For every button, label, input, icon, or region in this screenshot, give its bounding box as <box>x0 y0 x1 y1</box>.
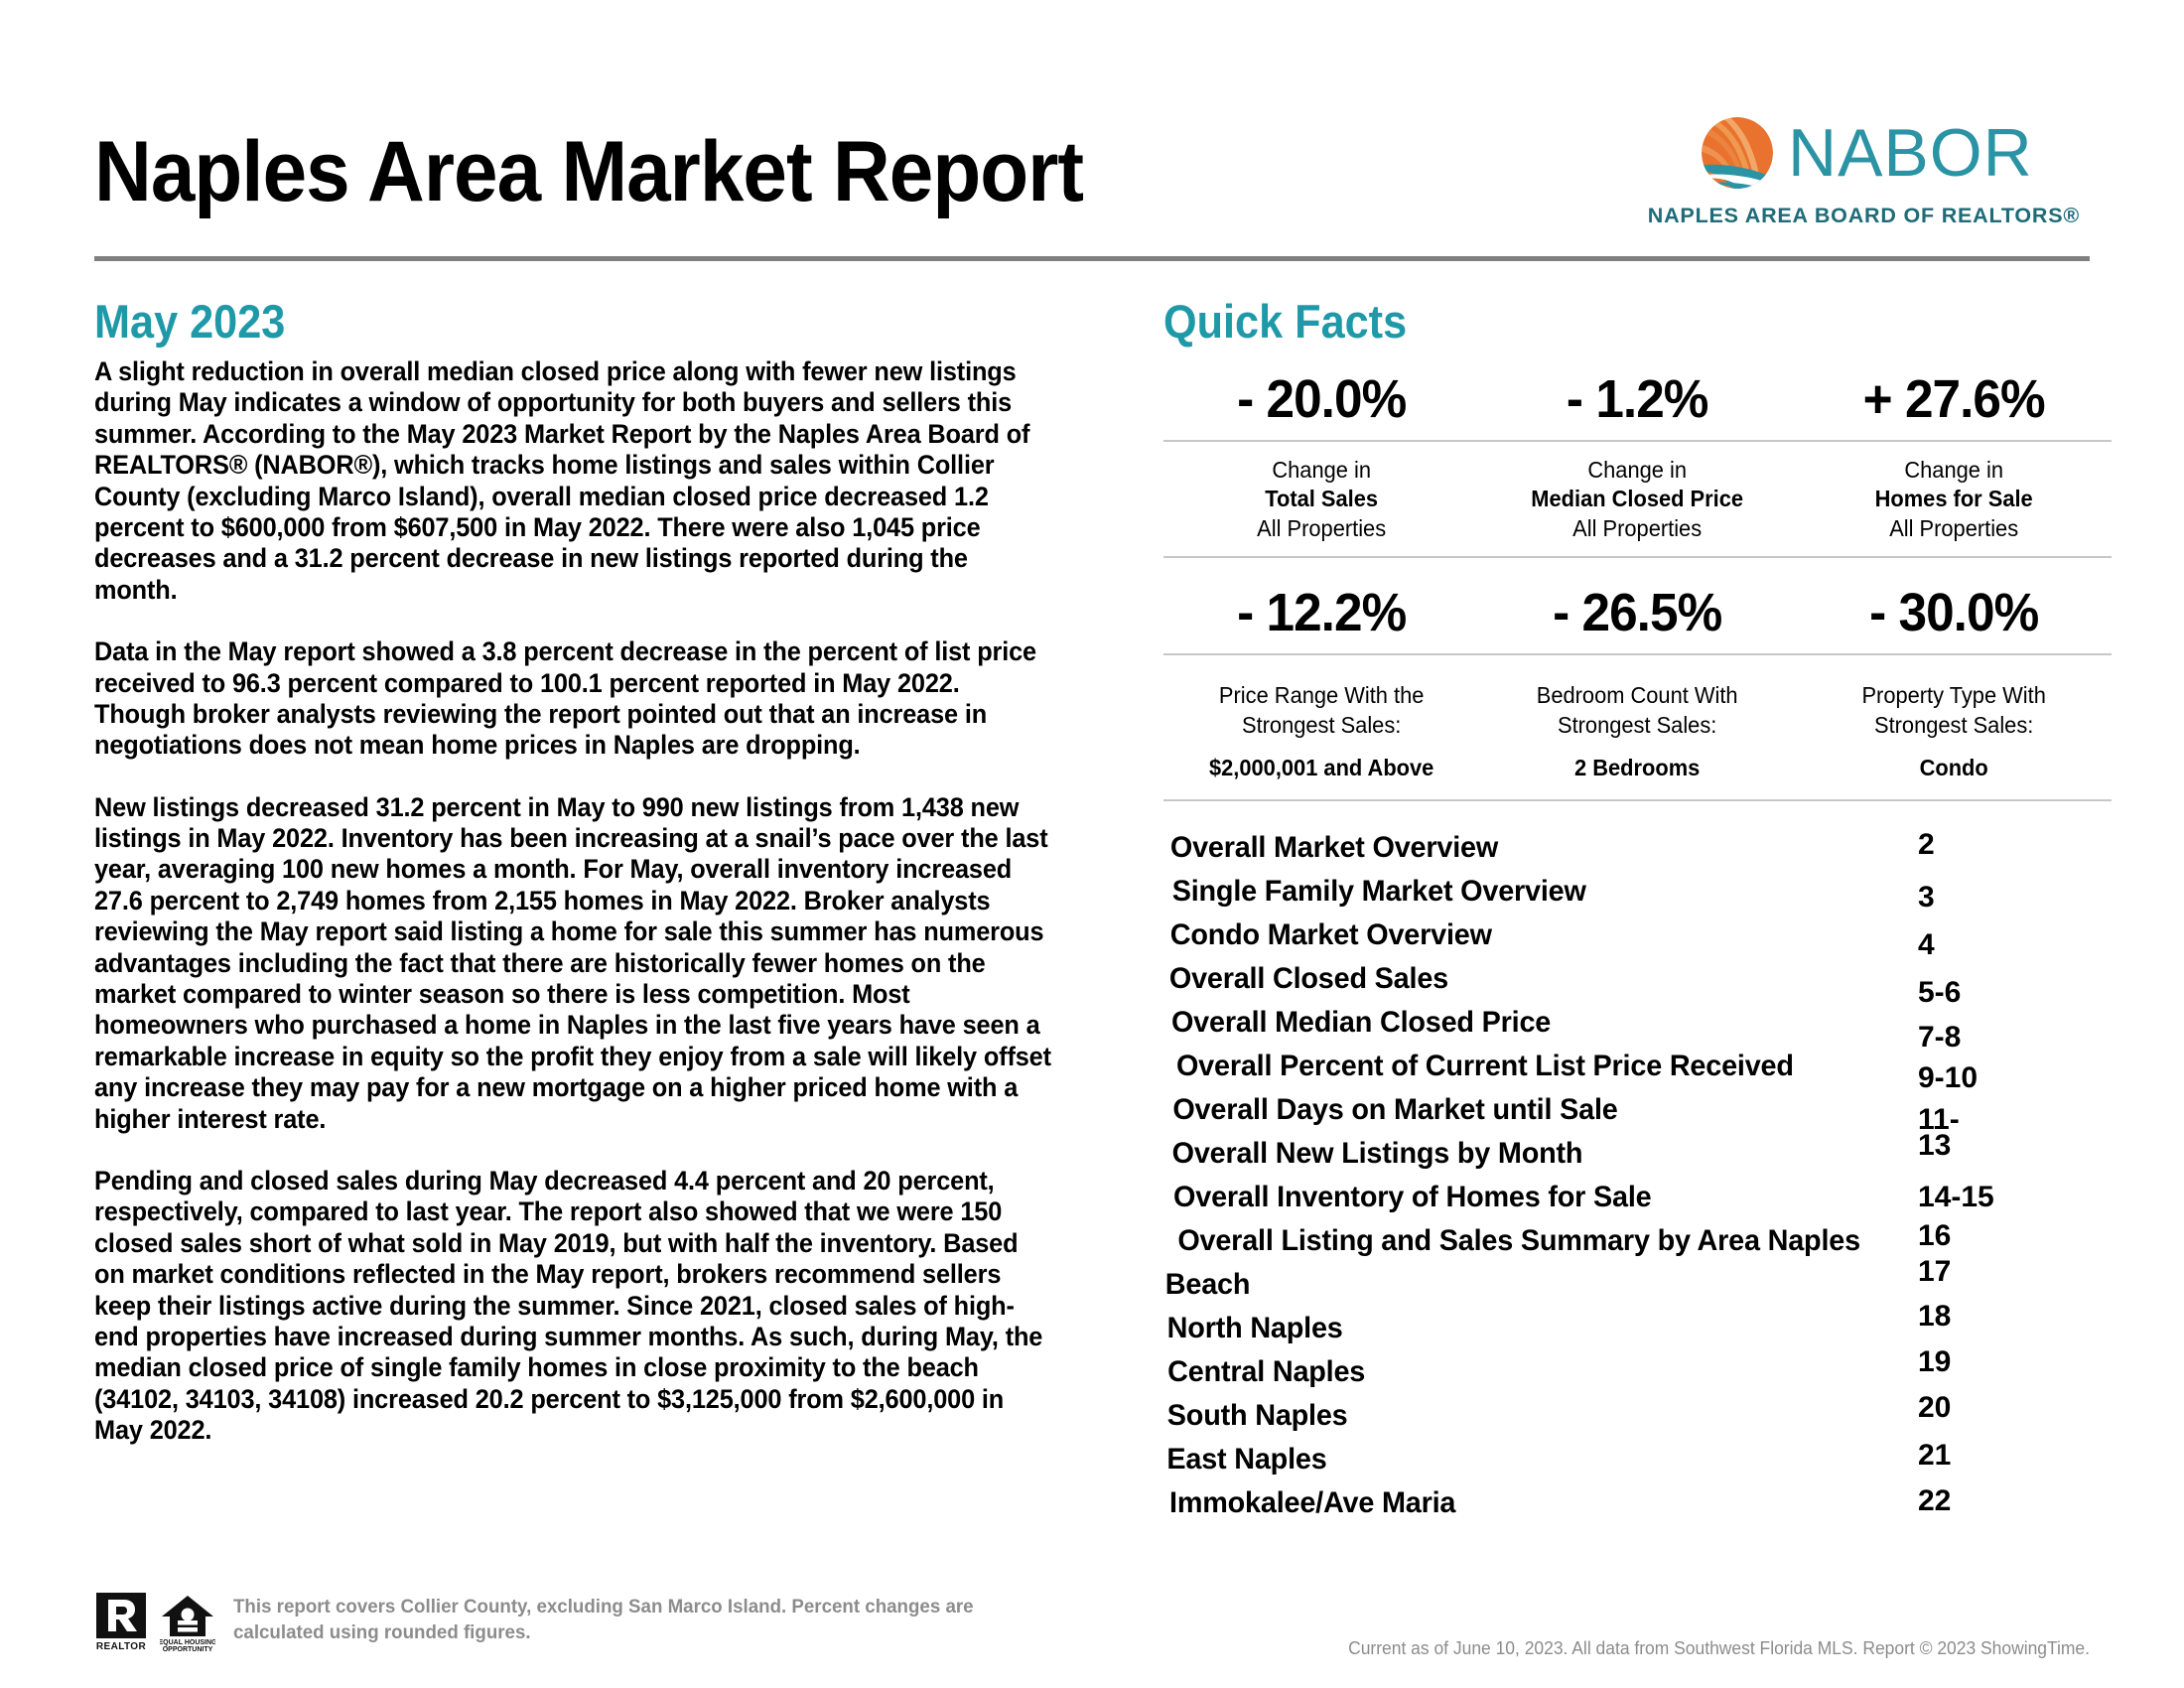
toc-page-number: 2 <box>1918 828 1935 862</box>
quick-fact-label: Bedroom Count With Strongest Sales: 2 Be… <box>1479 681 1795 784</box>
toc-title: Overall Inventory of Homes for Sale <box>1173 1181 1651 1214</box>
right-column: Quick Facts - 20.0% - 1.2% + 27.6% Chang… <box>1163 298 2112 1530</box>
quick-fact-label-line2: Strongest Sales: <box>1171 711 1471 741</box>
toc-title: Overall Percent of Current List Price Re… <box>1176 1050 1794 1083</box>
quick-fact-label: Change in Total Sales All Properties <box>1163 456 1479 545</box>
body-paragraph: New listings decreased 31.2 percent in M… <box>94 792 1052 1135</box>
body-paragraph: Data in the May report showed a 3.8 perc… <box>94 636 1052 762</box>
table-of-contents: Overall Market Overview 2 Single Family … <box>1163 831 2112 1530</box>
quick-fact-label-line1: Property Type With <box>1804 681 2104 711</box>
toc-row[interactable]: Immokalee/Ave Maria 22 <box>1163 1486 2112 1530</box>
toc-page-number: 14-15 <box>1918 1181 1994 1214</box>
toc-title: Condo Market Overview <box>1170 918 1492 952</box>
toc-row[interactable]: Overall Listing and Sales Summary by Are… <box>1163 1224 2112 1268</box>
toc-title: Overall Market Overview <box>1170 831 1498 865</box>
report-body: A slight reduction in overall median clo… <box>94 356 1052 1447</box>
month-heading: May 2023 <box>94 298 976 345</box>
toc-page-number: 20 <box>1918 1391 1951 1425</box>
body-paragraph: Pending and closed sales during May decr… <box>94 1166 1052 1447</box>
quick-fact-label-line2: Total Sales <box>1171 485 1471 514</box>
quick-fact-label-line2: Strongest Sales: <box>1487 711 1787 741</box>
realtor-icon: REALTOR <box>94 1593 148 1659</box>
svg-text:REALTOR: REALTOR <box>96 1641 147 1652</box>
quick-fact-value: + 27.6% <box>1804 366 2104 440</box>
toc-title: South Naples <box>1167 1399 1348 1433</box>
footer-left: REALTOR EQUAL HOUSING OPPORTUNITY This r… <box>94 1589 1057 1659</box>
toc-row[interactable]: Overall Median Closed Price 7-8 <box>1163 1006 2112 1050</box>
quick-fact-label-line2: Strongest Sales: <box>1804 711 2104 741</box>
quick-fact-label: Change in Homes for Sale All Properties <box>1796 456 2112 545</box>
toc-row[interactable]: East Naples 21 <box>1163 1443 2112 1486</box>
quick-fact-label-line3: 2 Bedrooms <box>1487 740 1787 783</box>
quick-fact-label-line3: All Properties <box>1804 514 2104 544</box>
quick-fact-label-line3: Condo <box>1804 740 2104 783</box>
quick-fact-label-line3: $2,000,001 and Above <box>1171 740 1471 783</box>
quick-fact-label-line1: Change in <box>1804 456 2104 486</box>
quick-fact-value: - 30.0% <box>1804 580 2104 653</box>
toc-row[interactable]: Overall Percent of Current List Price Re… <box>1163 1050 2112 1093</box>
toc-page-number: 19 <box>1918 1345 1951 1379</box>
quick-facts-row-2-labels: Price Range With the Strongest Sales: $2… <box>1163 655 2112 800</box>
toc-title: Overall New Listings by Month <box>1172 1137 1583 1171</box>
quick-fact-label-line3: All Properties <box>1171 514 1471 544</box>
toc-page-number: 9-10 <box>1918 1061 1978 1095</box>
quick-fact-value: - 12.2% <box>1171 580 1471 653</box>
toc-title: Beach <box>1165 1268 1250 1302</box>
quick-facts-heading: Quick Facts <box>1163 298 2036 345</box>
quick-facts-row-2-values: - 12.2% - 26.5% - 30.0% <box>1163 558 2112 653</box>
body-paragraph: A slight reduction in overall median clo… <box>94 356 1052 606</box>
nabor-globe-icon <box>1695 110 1780 196</box>
quick-fact-label-line2: Median Closed Price <box>1487 485 1787 514</box>
toc-title: North Naples <box>1167 1312 1343 1345</box>
toc-row[interactable]: Overall Market Overview 2 <box>1163 831 2112 875</box>
header-divider <box>94 256 2090 261</box>
toc-row[interactable]: Overall New Listings by Month 13 <box>1163 1137 2112 1181</box>
page-header: Naples Area Market Report <box>94 79 2090 253</box>
footer-note: This report covers Collier County, exclu… <box>233 1589 1024 1645</box>
toc-page-number: 16 <box>1918 1219 1951 1253</box>
quick-fact-value: - 1.2% <box>1487 366 1787 440</box>
quick-facts-divider <box>1163 799 2112 801</box>
quick-fact-label: Change in Median Closed Price All Proper… <box>1479 456 1795 545</box>
toc-row[interactable]: Beach 17 <box>1163 1268 2112 1312</box>
quick-fact-label-line1: Price Range With the <box>1171 681 1471 711</box>
toc-title: Central Naples <box>1167 1355 1365 1389</box>
toc-row[interactable]: Overall Days on Market until Sale 11- <box>1163 1093 2112 1137</box>
nabor-tagline: NAPLES AREA BOARD OF REALTORS® <box>1648 204 2080 228</box>
quick-fact-value: - 20.0% <box>1171 366 1471 440</box>
toc-page-number: 4 <box>1918 928 1935 962</box>
footer-badges: REALTOR EQUAL HOUSING OPPORTUNITY <box>94 1589 215 1659</box>
nabor-wordmark: NABOR <box>1788 119 2033 187</box>
toc-page-number: 17 <box>1918 1255 1951 1289</box>
quick-fact-label: Price Range With the Strongest Sales: $2… <box>1163 681 1479 784</box>
toc-title: Immokalee/Ave Maria <box>1169 1486 1455 1520</box>
footer-source-note: Current as of June 10, 2023. All data fr… <box>1348 1638 2090 1659</box>
toc-row[interactable]: Single Family Market Overview 3 <box>1163 875 2112 918</box>
quick-fact-label-line1: Change in <box>1171 456 1471 486</box>
quick-fact-label-line2: Homes for Sale <box>1804 485 2104 514</box>
toc-title: Single Family Market Overview <box>1172 875 1586 909</box>
report-page: Naples Area Market Report <box>0 0 2184 1688</box>
toc-row[interactable]: Condo Market Overview 4 <box>1163 918 2112 962</box>
svg-text:OPPORTUNITY: OPPORTUNITY <box>163 1646 213 1653</box>
toc-row[interactable]: Overall Closed Sales 5-6 <box>1163 962 2112 1006</box>
toc-title: Overall Closed Sales <box>1169 962 1448 996</box>
toc-row[interactable]: North Naples 18 <box>1163 1312 2112 1355</box>
toc-page-number: 22 <box>1918 1484 1951 1518</box>
toc-title: Overall Median Closed Price <box>1171 1006 1551 1040</box>
toc-page-number: 3 <box>1918 881 1935 914</box>
toc-title: Overall Days on Market until Sale <box>1172 1093 1617 1127</box>
quick-fact-label-line3: All Properties <box>1487 514 1787 544</box>
page-title: Naples Area Market Report <box>94 129 1083 214</box>
quick-fact-value: - 26.5% <box>1487 580 1787 653</box>
nabor-logo: NABOR NAPLES AREA BOARD OF REALTORS® <box>1648 110 2080 228</box>
toc-row[interactable]: Central Naples 19 <box>1163 1355 2112 1399</box>
quick-facts-row-1-labels: Change in Total Sales All Properties Cha… <box>1163 442 2112 557</box>
equal-housing-opportunity-icon: EQUAL HOUSING OPPORTUNITY <box>160 1593 215 1659</box>
toc-page-number: 5-6 <box>1918 976 1961 1010</box>
toc-title: Overall Listing and Sales Summary by Are… <box>1177 1224 1860 1258</box>
left-column: May 2023 A slight reduction in overall m… <box>94 298 1052 1447</box>
toc-page-number: 21 <box>1918 1439 1951 1473</box>
svg-text:EQUAL HOUSING: EQUAL HOUSING <box>160 1639 215 1646</box>
toc-row[interactable]: South Naples 20 <box>1163 1399 2112 1443</box>
toc-page-number: 13 <box>1918 1129 1951 1163</box>
quick-fact-label-line1: Change in <box>1487 456 1787 486</box>
toc-page-number: 18 <box>1918 1300 1951 1334</box>
toc-title: East Naples <box>1166 1443 1326 1477</box>
quick-fact-label-line1: Bedroom Count With <box>1487 681 1787 711</box>
quick-fact-label: Property Type With Strongest Sales: Cond… <box>1796 681 2112 784</box>
toc-row[interactable]: Overall Inventory of Homes for Sale 14-1… <box>1163 1181 2112 1224</box>
quick-facts-row-1-values: - 20.0% - 1.2% + 27.6% <box>1163 366 2112 440</box>
